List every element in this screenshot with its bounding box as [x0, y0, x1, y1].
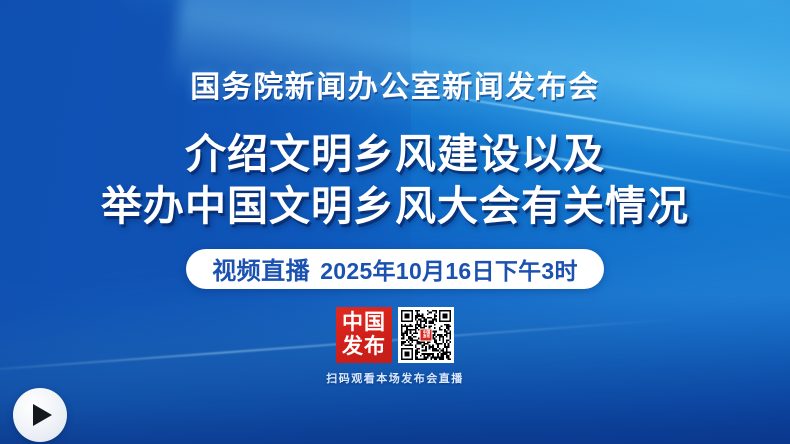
poster-content: 国务院新闻办公室新闻发布会 介绍文明乡风建设以及 举办中国文明乡风大会有关情况 … — [0, 0, 790, 444]
qr-logo-line-2: 发布 — [422, 335, 430, 339]
qr-code[interactable]: 中国 发布 — [398, 307, 454, 363]
qr-center-logo: 中国 发布 — [420, 328, 433, 341]
organization-title: 国务院新闻办公室新闻发布会 — [190, 62, 600, 106]
live-badge-datetime: 2025年10月16日下午3时 — [320, 252, 578, 286]
broadcast-poster: 国务院新闻办公室新闻发布会 介绍文明乡风建设以及 举办中国文明乡风大会有关情况 … — [0, 0, 790, 444]
play-triangle-icon — [33, 404, 52, 426]
page-title: 介绍文明乡风建设以及 举办中国文明乡风大会有关情况 — [101, 128, 689, 233]
logo-text-line-1: 中国 — [342, 312, 386, 333]
china-release-logo: 中国 发布 — [336, 307, 392, 363]
headline-line-2: 举办中国文明乡风大会有关情况 — [101, 180, 689, 232]
brand-and-qr-row: 中国 发布 中国 发布 — [336, 307, 454, 363]
play-button[interactable] — [13, 388, 67, 442]
scan-instruction-caption: 扫码观看本场发布会直播 — [326, 370, 464, 386]
headline-line-1: 介绍文明乡风建设以及 — [101, 128, 689, 180]
live-schedule-badge: 视频直播 2025年10月16日下午3时 — [186, 249, 604, 289]
live-badge-label: 视频直播 — [212, 251, 310, 286]
logo-text-line-2: 发布 — [342, 336, 386, 357]
